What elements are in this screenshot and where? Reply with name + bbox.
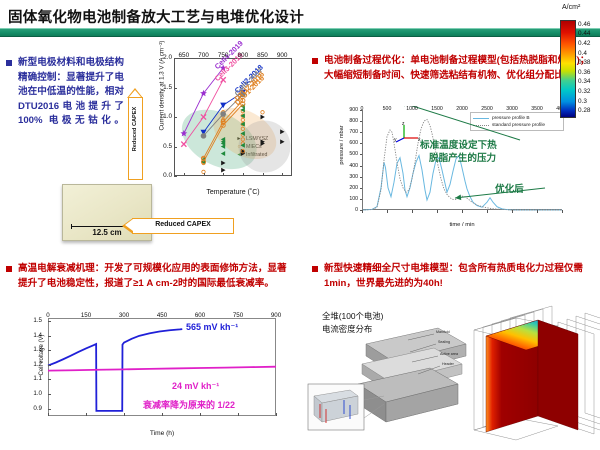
stack-model-figure: 全堆(100个电池) 电流密度分布 ManifoldSealingActive … xyxy=(306,300,600,448)
tick-mark xyxy=(174,88,177,89)
chart1-xtick: 850 xyxy=(257,52,268,59)
chart3-ytick: 1.0 xyxy=(18,390,42,397)
tick-mark xyxy=(360,143,363,144)
chart3-xtick: 450 xyxy=(157,312,167,319)
chart-svg xyxy=(330,106,592,234)
annotation-optimized: 优化后 xyxy=(495,181,524,195)
chart2-xtick: 3500 xyxy=(531,106,543,112)
data-point-cell1-2017 xyxy=(201,133,207,139)
tick-mark xyxy=(437,210,438,213)
tick-mark xyxy=(48,350,51,351)
bullet-q3-text: 高温电解衰减机理：开发了可规模化应用的表面修饰方法，显著提升了电池稳定性，报道了… xyxy=(18,262,296,291)
tick-mark xyxy=(48,321,51,322)
chart1-ytick: 0.0 xyxy=(152,172,172,179)
chart2-ytick: 600 xyxy=(338,140,358,146)
bullet-q2-text: 电池制备过程优化：单电池制备过程模型(包括热脱脂和烧结)；大幅缩短制备时间、快速… xyxy=(324,54,594,83)
reduced-capex-horizontal-label: Reduced CAPEX xyxy=(132,221,234,228)
tick-mark xyxy=(124,413,125,416)
chart3-xtick: 600 xyxy=(195,312,205,319)
chart2-xtick: 2000 xyxy=(456,106,468,112)
reduced-capex-horizontal-arrow: Reduced CAPEX xyxy=(122,218,234,234)
tick-mark xyxy=(360,132,363,133)
figure-shape xyxy=(576,316,600,428)
tick-mark xyxy=(243,173,244,176)
bullet-q4-text: 新型快速精细全尺寸电堆模型：包含所有热质电化力过程仅需1min，世界最先进的为4… xyxy=(324,262,596,291)
tick-mark xyxy=(200,413,201,416)
chart1-ytick: 1.0 xyxy=(152,113,172,120)
chart-svg xyxy=(306,300,600,448)
tick-mark xyxy=(174,176,177,177)
tick-mark xyxy=(174,117,177,118)
chart2-xtick: 1500 xyxy=(431,106,443,112)
tick-mark xyxy=(223,173,224,176)
axis-triad-icon: z x y xyxy=(394,122,422,146)
chart1-xtick: 900 xyxy=(277,52,288,59)
data-point-cell3-2019 xyxy=(181,142,186,147)
tick-mark xyxy=(360,154,363,155)
bullet-square-icon xyxy=(312,266,318,272)
chart2-ytick: 200 xyxy=(338,185,358,191)
tick-mark xyxy=(204,173,205,176)
colorbar-tick: 0.32 xyxy=(578,88,590,95)
tick-mark xyxy=(48,413,49,416)
svg-text:x: x xyxy=(418,137,421,143)
title-divider xyxy=(0,28,600,37)
chart3-ytick: 1.1 xyxy=(18,375,42,382)
chart1-xtick: 750 xyxy=(218,52,229,59)
part-label-sealing: Sealing xyxy=(438,340,450,344)
chart2-ytick: 400 xyxy=(338,163,358,169)
chart2-xtick: 2500 xyxy=(481,106,493,112)
bullet-q1-text: 新型电极材料和电极结构精确控制：显著提升了电池在中低温的性能，相对DTU2016… xyxy=(18,56,124,129)
data-point xyxy=(261,115,265,120)
chart2-xtick: 3000 xyxy=(506,106,518,112)
chart1-ytick: 0.5 xyxy=(152,143,172,150)
tick-mark xyxy=(263,173,264,176)
tick-mark xyxy=(360,177,363,178)
chart3-ytick: 1.5 xyxy=(18,317,42,324)
part-label-header: Header xyxy=(442,362,454,366)
chart3-xtick: 300 xyxy=(119,312,129,319)
chart1-ytick: 2.0 xyxy=(152,54,172,61)
reduced-capex-vertical-arrow: Reduced CAPEX xyxy=(128,88,143,180)
colorbar-title: A/cm² xyxy=(562,4,580,11)
reduced-capex-vertical-label: Reduced CAPEX xyxy=(132,93,138,165)
tick-mark xyxy=(48,394,51,395)
tick-mark xyxy=(412,210,413,213)
tick-mark xyxy=(48,379,51,380)
page-title: 固体氧化物电池制备放大工艺与电堆优化设计 xyxy=(8,6,304,27)
chart2-ytick: 300 xyxy=(338,174,358,180)
colorbar-tick: 0.28 xyxy=(578,107,590,114)
chart-durability: Cell voltage (V) Time (h) 0.91.01.11.21.… xyxy=(8,312,296,444)
annotation-decay-ratio: 衰减率降为原来的 1/22 xyxy=(143,398,235,411)
colorbar-tick: 0.46 xyxy=(578,21,590,28)
tick-mark xyxy=(360,166,363,167)
figure-shape xyxy=(585,313,600,425)
tick-mark xyxy=(86,413,87,416)
chart3-xtick: 0 xyxy=(46,312,49,319)
tick-mark xyxy=(282,173,283,176)
tick-mark xyxy=(487,210,488,213)
chart-cell-performance: Current density at 1.3 V (A cm⁻²) Temper… xyxy=(146,52,304,210)
chart1-ytick: 1.5 xyxy=(152,84,172,91)
chart3-ytick: 1.4 xyxy=(18,332,42,339)
data-point-cell1-2017 xyxy=(220,111,226,117)
chart3-xtick: 750 xyxy=(233,312,243,319)
chart2-ytick: 0 xyxy=(338,207,358,213)
tick-mark xyxy=(387,210,388,213)
colorbar xyxy=(560,20,576,118)
tick-mark xyxy=(48,336,51,337)
chart2-ytick: 500 xyxy=(338,151,358,157)
colorbar-tick: 0.36 xyxy=(578,69,590,76)
tick-mark xyxy=(360,199,363,200)
annotation-standard-line1: 标准温度设定下热 xyxy=(420,140,497,153)
bullet-q3: 高温电解衰减机理：开发了可规模化应用的表面修饰方法，显著提升了电池稳定性，报道了… xyxy=(6,262,296,291)
tick-mark xyxy=(462,210,463,213)
bullet-square-icon xyxy=(6,266,12,272)
colorbar-tick: 0.4 xyxy=(578,50,587,57)
part-label-active-area: Active area xyxy=(440,352,458,356)
tick-mark xyxy=(512,210,513,213)
chart2-ytick: 100 xyxy=(338,196,358,202)
tick-mark xyxy=(174,58,177,59)
tick-mark xyxy=(162,413,163,416)
chart3-ytick: 0.9 xyxy=(18,405,42,412)
tick-mark xyxy=(562,210,563,213)
chart2-ytick: 700 xyxy=(338,129,358,135)
chart2-xtick: 1000 xyxy=(406,106,418,112)
tick-mark xyxy=(48,409,51,410)
colorbar-tick: 0.38 xyxy=(578,59,590,66)
chart-svg xyxy=(8,312,296,444)
colorbar-tick: 0.34 xyxy=(578,78,590,85)
annotation-565mv: 565 mV kh⁻¹ xyxy=(186,322,238,333)
tick-mark xyxy=(174,147,177,148)
chart3-ytick: 1.2 xyxy=(18,361,42,368)
tick-mark xyxy=(360,121,363,122)
bullet-q2: 电池制备过程优化：单电池制备过程模型(包括热脱脂和烧结)；大幅缩短制备时间、快速… xyxy=(312,54,594,83)
tick-mark xyxy=(276,413,277,416)
chart1-xtick: 700 xyxy=(198,52,209,59)
chart2-ytick: 900 xyxy=(338,107,358,113)
chart1-xtick: 650 xyxy=(178,52,189,59)
chart-pressure-profile: pressure / mbar time / min pressure prof… xyxy=(330,106,592,234)
annotation-standard-line2: 脱脂产生的压力 xyxy=(429,153,497,166)
chart2-ytick: 800 xyxy=(338,118,358,124)
data-point xyxy=(261,111,264,114)
chart2-xtick: 0 xyxy=(361,106,364,112)
colorbar-tick: 0.44 xyxy=(578,30,590,37)
chart3-xtick: 900 xyxy=(271,312,281,319)
bullet-q4: 新型快速精细全尺寸电堆模型：包含所有热质电化力过程仅需1min，世界最先进的为4… xyxy=(312,262,596,291)
chart1-xtick: 800 xyxy=(237,52,248,59)
tick-mark xyxy=(238,413,239,416)
chart3-xtick: 150 xyxy=(81,312,91,319)
chart2-xtick: 500 xyxy=(383,106,392,112)
tick-mark xyxy=(360,188,363,189)
bullet-q1: 新型电极材料和电极结构精确控制：显著提升了电池在中低温的性能，相对DTU2016… xyxy=(6,56,124,129)
tick-mark xyxy=(184,173,185,176)
tick-mark xyxy=(48,365,51,366)
slide-root: 固体氧化物电池制备放大工艺与电堆优化设计 新型电极材料和电极结构精确控制：显著提… xyxy=(0,0,600,450)
colorbar-tick: 0.3 xyxy=(578,98,587,105)
part-label-manifold: Manifold xyxy=(436,330,450,334)
chart3-ytick: 1.3 xyxy=(18,346,42,353)
series-line xyxy=(48,367,276,371)
colorbar-tick: 0.42 xyxy=(578,40,590,47)
tick-mark xyxy=(362,210,363,213)
bullet-square-icon xyxy=(6,60,12,66)
tick-mark xyxy=(537,210,538,213)
annotation-24mv: 24 mV kh⁻¹ xyxy=(172,381,219,392)
bullet-square-icon xyxy=(312,58,318,64)
annotation-standard-pressure: 标准温度设定下热 脱脂产生的压力 xyxy=(420,140,497,165)
figure-shape xyxy=(538,320,578,430)
